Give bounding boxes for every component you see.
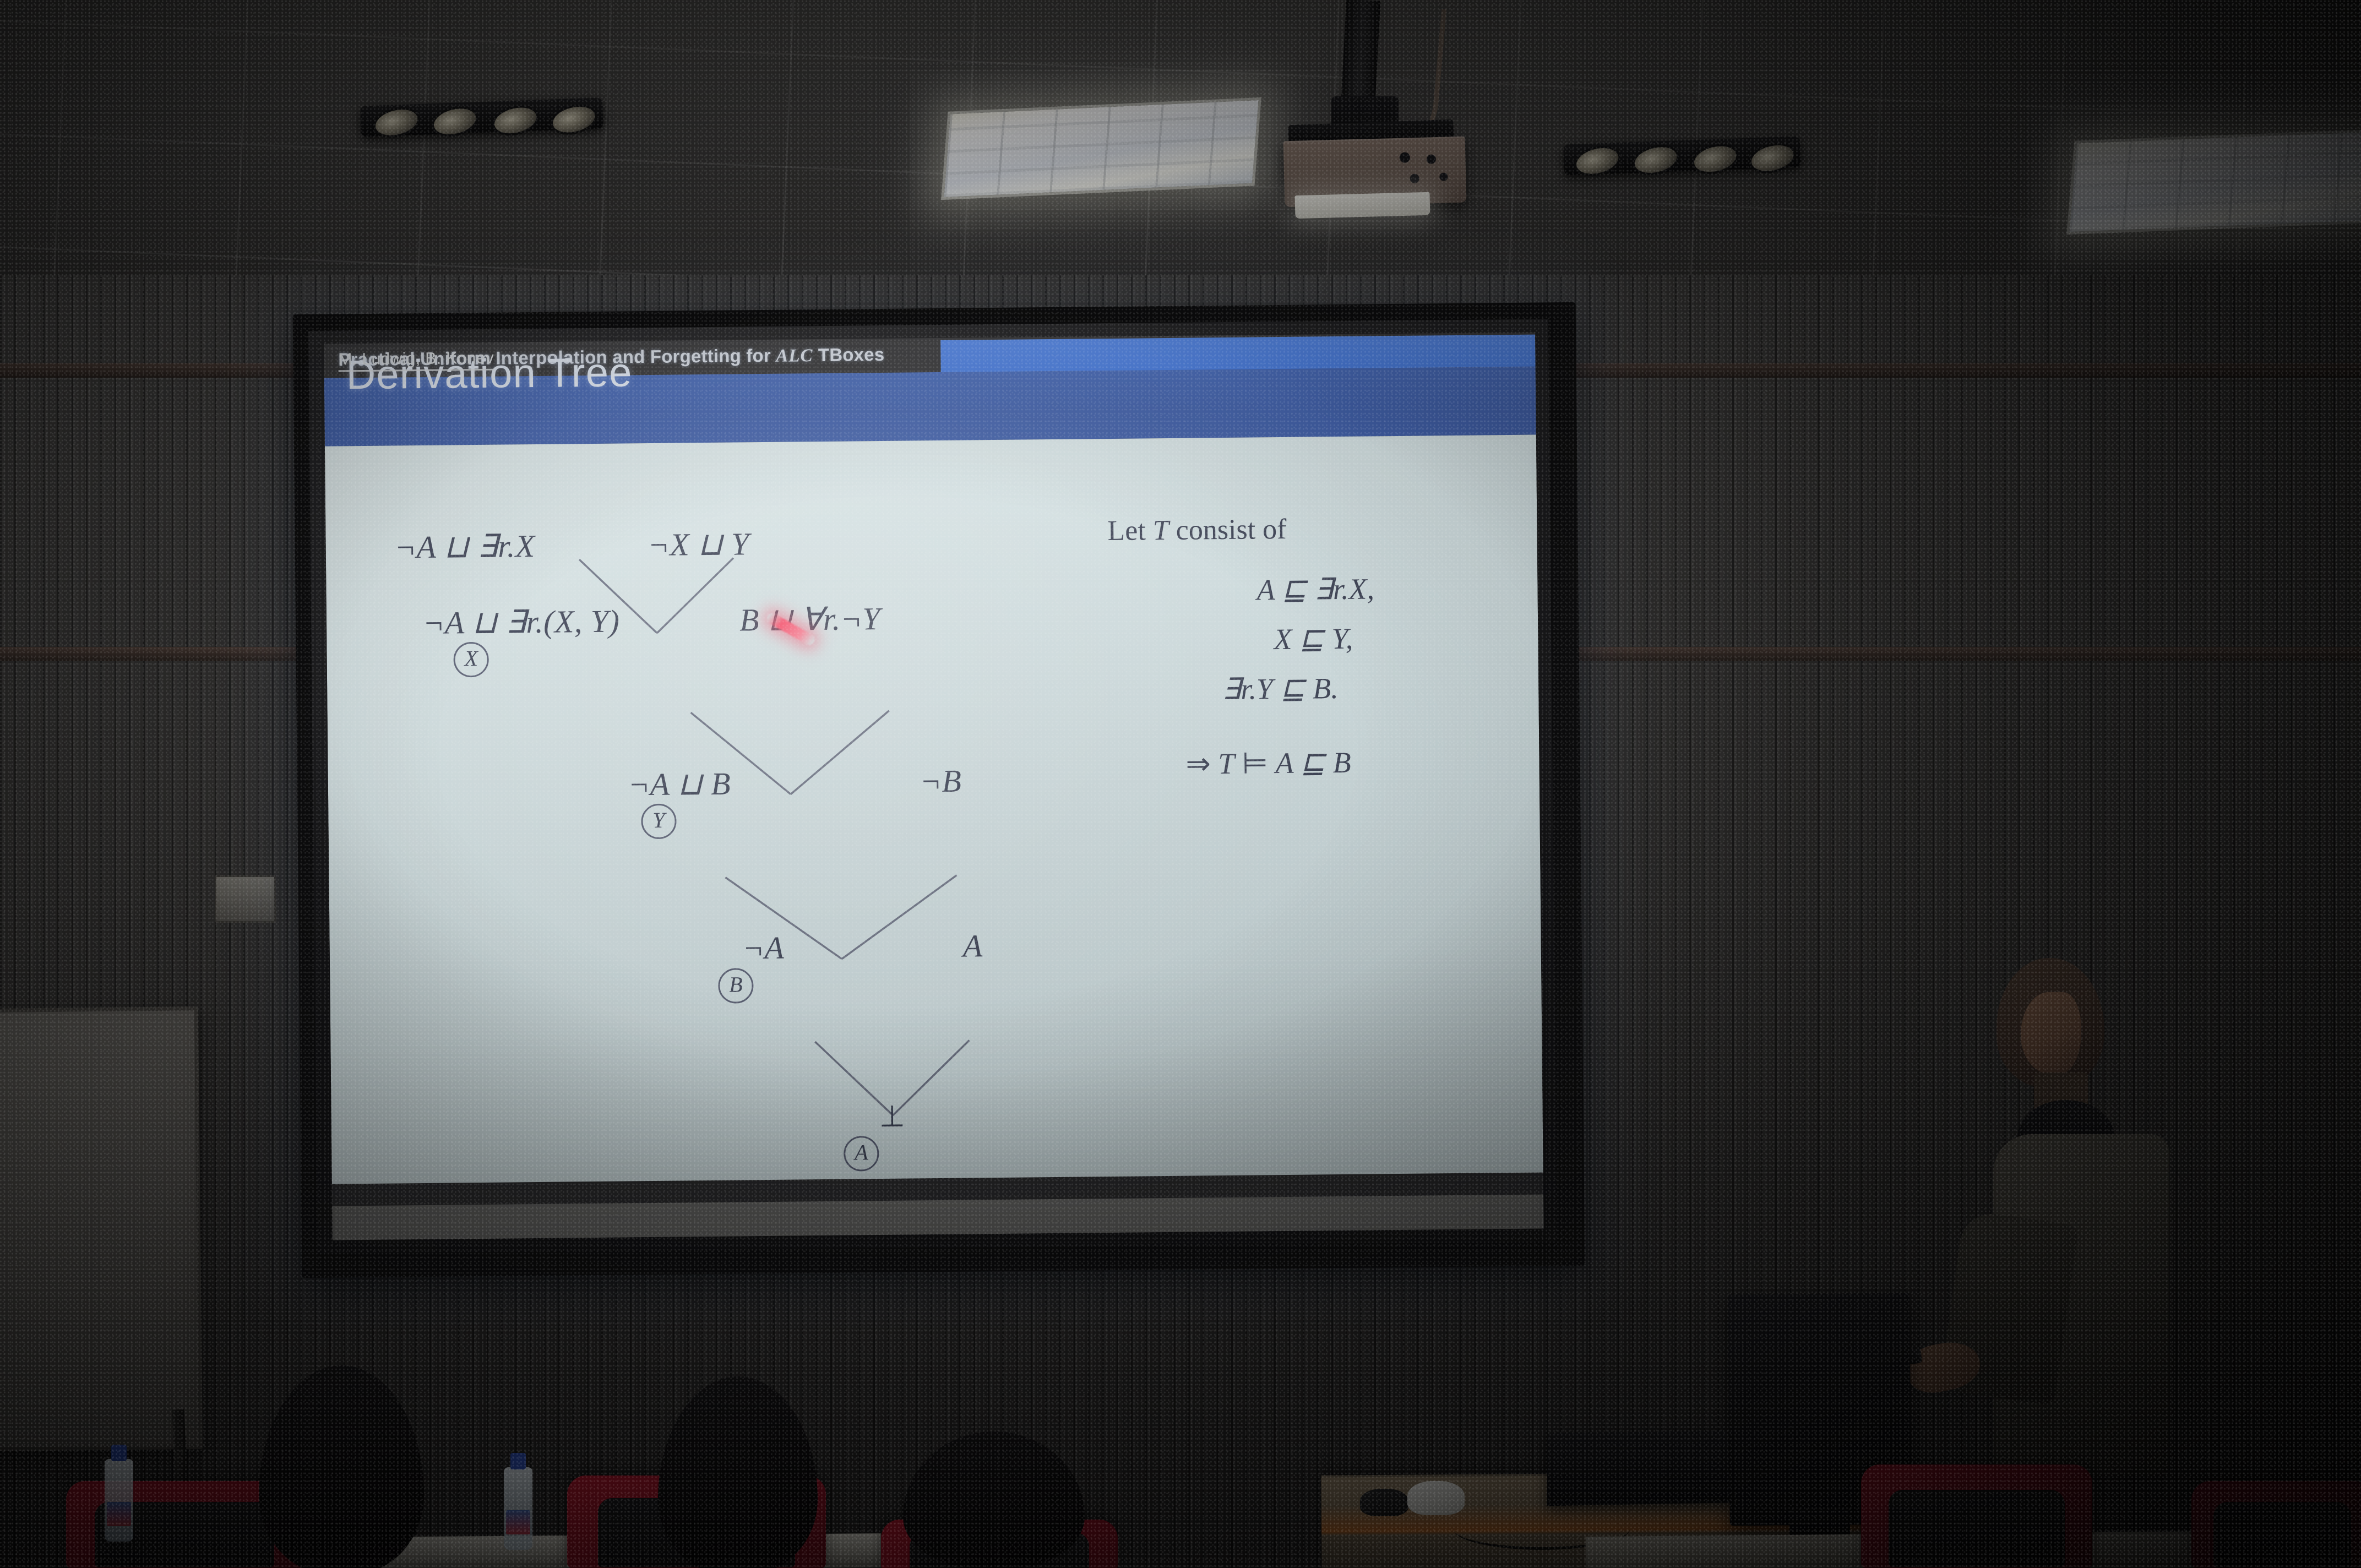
water-bottle	[504, 1467, 532, 1550]
tbox-axiom-1: A ⊑ ∃r.X,	[1256, 571, 1374, 607]
running-title-suffix: TBoxes	[813, 344, 884, 365]
audience-chair	[2191, 1481, 2361, 1568]
slide-body: ¬A ⊔ ∃r.X ¬X ⊔ Y ¬A ⊔ ∃r.(X, Y) X B ⊔ ∀r…	[325, 435, 1543, 1184]
whiteboard	[0, 1006, 203, 1451]
projected-slide: Practical Uniform Interpolation and Forg…	[324, 333, 1544, 1240]
edge-n2-n3	[656, 558, 734, 633]
mouse-dark	[1360, 1489, 1408, 1516]
tree-node-n8: A	[962, 927, 983, 964]
tbox-axiom-2: X ⊑ Y,	[1274, 621, 1353, 656]
tree-node-n2: ¬X ⊔ Y	[648, 525, 749, 563]
laptop	[1547, 1430, 1731, 1506]
tbox-entailment-line: ⇒ T ⊨ A ⊑ B	[1185, 745, 1351, 781]
water-bottle	[105, 1459, 133, 1542]
tbox-intro-line: Let T consist of	[1107, 513, 1287, 547]
tree-node-n1: ¬A ⊔ ∃r.X	[394, 527, 535, 565]
tree-node-n6: ¬B	[920, 763, 962, 800]
tbox-intro-prefix: Let	[1107, 515, 1153, 547]
tree-node-n5-label: Y	[641, 804, 677, 840]
tree-node-n7: ¬A	[742, 929, 784, 967]
projection-screen-surface: Practical Uniform Interpolation and Forg…	[308, 319, 1557, 1254]
edge-n6-n7	[841, 875, 957, 959]
tree-node-n3: ¬A ⊔ ∃r.(X, Y)	[423, 602, 620, 641]
slide-footer-authors: M. Ludwig, B. Konev	[338, 349, 494, 372]
tbox-intro-symbol: T	[1153, 515, 1169, 546]
presenter-face	[2021, 992, 2081, 1075]
slide-footer-band	[332, 1194, 1543, 1240]
entailment-turnstile-icon: ⊨	[1242, 747, 1269, 780]
tbox-axiom-3: ∃r.Y ⊑ B.	[1222, 671, 1339, 706]
ceiling-mounted-projector	[1255, 0, 1597, 253]
running-title-logic-name: ALC	[776, 346, 813, 366]
lecture-room-scene: Practical Uniform Interpolation and Forg…	[0, 0, 2361, 1568]
presenter-head	[1996, 958, 2104, 1088]
tree-node-n4: B ⊔ ∀r.¬Y	[739, 600, 881, 638]
projector-lens	[1294, 192, 1430, 219]
tbox-intro-suffix: consist of	[1168, 514, 1286, 546]
desk-peripherals	[1360, 1481, 1465, 1516]
ceiling-light-panel-right	[2066, 129, 2361, 235]
projection-screen-frame: Practical Uniform Interpolation and Forg…	[293, 302, 1585, 1278]
tree-node-n9-label: A	[844, 1136, 879, 1172]
tree-node-n9: ⊥	[879, 1099, 905, 1134]
ceiling-light-panel-center	[941, 97, 1261, 200]
entailment-claim: A ⊑ B	[1275, 746, 1351, 780]
tree-node-n3-label: X	[453, 642, 489, 678]
audience-chair	[1861, 1464, 2092, 1568]
entailment-tbox-symbol: T	[1218, 747, 1235, 780]
edge-n4-n5	[790, 711, 890, 794]
tree-node-n7-label: B	[718, 968, 754, 1004]
tree-node-n5: ¬A ⊔ B	[628, 765, 731, 803]
wall-mounted-notice-plate	[215, 875, 276, 923]
projector-ports	[1391, 144, 1459, 193]
entailment-arrow-icon: ⇒	[1185, 747, 1211, 780]
